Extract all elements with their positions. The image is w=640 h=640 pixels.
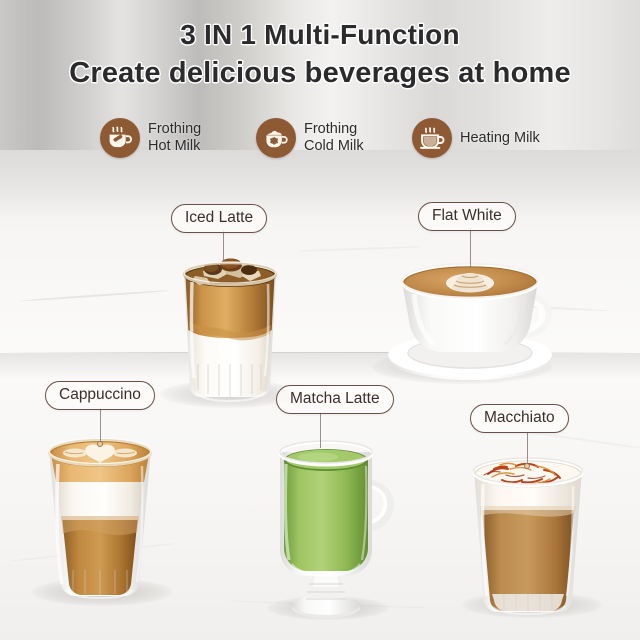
- feature-heating-milk: Heating Milk: [412, 118, 540, 158]
- macchiato-leader-line: [527, 432, 528, 466]
- callout-matcha-latte[interactable]: Matcha Latte: [276, 385, 394, 414]
- feature-label: Frothing Cold Milk: [304, 121, 364, 155]
- feature-label: Heating Milk: [460, 130, 540, 147]
- macchiato-glass: [458, 444, 598, 624]
- cappuccino-leader-dot: [97, 441, 103, 447]
- frothing-cold-milk-icon: [256, 118, 296, 158]
- callout-macchiato[interactable]: Macchiato: [470, 404, 569, 433]
- flat-white-cup: [370, 254, 570, 384]
- cappuccino-glass: [35, 424, 165, 600]
- headline-line-2: Create delicious beverages at home: [0, 55, 640, 91]
- matcha-latte-mug: [262, 424, 402, 624]
- frothing-hot-milk-icon: [100, 118, 140, 158]
- iced-latte-glass: [165, 252, 295, 402]
- headline-line-1: 3 IN 1 Multi-Function: [0, 18, 640, 52]
- cappuccino-leader-line: [100, 408, 101, 444]
- feature-label: Frothing Hot Milk: [148, 121, 201, 155]
- feature-list: Frothing Hot Milk Frothing Cold Milk: [0, 112, 640, 170]
- iced-latte-leader-line: [223, 230, 224, 260]
- heating-milk-icon: [412, 118, 452, 158]
- flat-white-leader-line: [470, 228, 471, 268]
- feature-frothing-cold-milk: Frothing Cold Milk: [256, 118, 364, 158]
- callout-cappuccino[interactable]: Cappuccino: [45, 381, 155, 410]
- callout-flat-white[interactable]: Flat White: [418, 202, 516, 231]
- macchiato-leader-dot: [524, 463, 530, 469]
- feature-frothing-hot-milk: Frothing Hot Milk: [100, 118, 201, 158]
- product-infographic: 3 IN 1 Multi-Function Create delicious b…: [0, 0, 640, 640]
- matcha-latte-leader-line: [320, 412, 321, 448]
- callout-iced-latte[interactable]: Iced Latte: [171, 204, 267, 233]
